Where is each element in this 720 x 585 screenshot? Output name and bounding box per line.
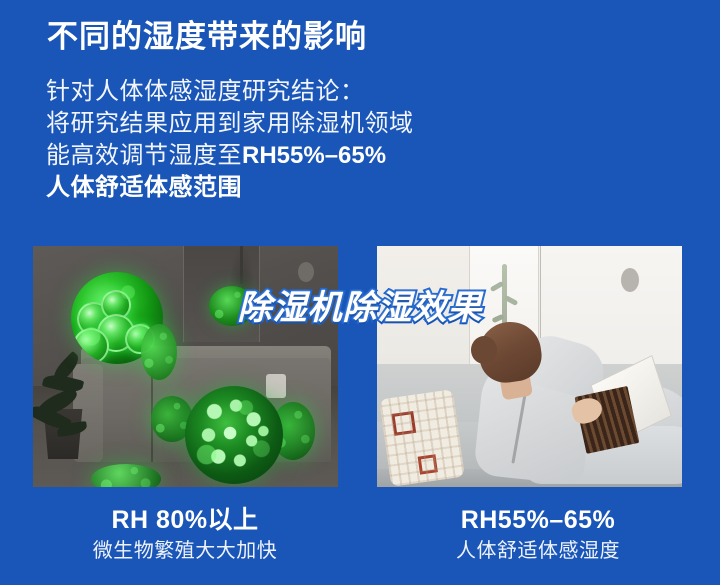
hair-bun: [471, 336, 497, 364]
poster-root: 不同的湿度带来的影响 针对人体体感湿度研究结论： 将研究结果应用到家用除湿机领域…: [0, 0, 720, 585]
page-title: 不同的湿度带来的影响: [47, 18, 367, 55]
intro-block: 针对人体体感湿度研究结论： 将研究结果应用到家用除湿机领域 能高效调节湿度至RH…: [46, 76, 686, 204]
microbe-cluster-edge: [141, 324, 177, 380]
caption-title: RH 80%以上: [25, 505, 345, 535]
humidity-range-value: RH55%–65%: [242, 142, 386, 169]
person-figure: [427, 322, 665, 472]
pillow-motif: [391, 411, 416, 436]
microbe-virus-large: [185, 386, 283, 484]
intro-line-3-prefix: 能高效调节湿度至: [46, 142, 242, 169]
caption-title: RH55%–65%: [378, 505, 698, 535]
caption-comfort-humidity: RH55%–65% 人体舒适体感湿度: [378, 505, 698, 564]
caption-subtitle: 微生物繁殖大大加快: [25, 538, 345, 564]
intro-line-3: 能高效调节湿度至RH55%–65%: [46, 140, 686, 172]
caption-high-humidity: RH 80%以上 微生物繁殖大大加快: [25, 505, 345, 564]
wall-knob-icon: [298, 262, 314, 282]
intro-line-4: 人体舒适体感范围: [46, 172, 686, 204]
microbe-floor: [91, 464, 161, 487]
microbe-cell: [73, 328, 109, 364]
caption-subtitle: 人体舒适体感湿度: [378, 538, 698, 564]
overlay-title: 除湿机除湿效果: [0, 280, 720, 329]
virus-spikes: [185, 386, 283, 484]
intro-line-1: 针对人体体感湿度研究结论：: [46, 76, 686, 108]
intro-line-2: 将研究结果应用到家用除湿机领域: [46, 108, 686, 140]
